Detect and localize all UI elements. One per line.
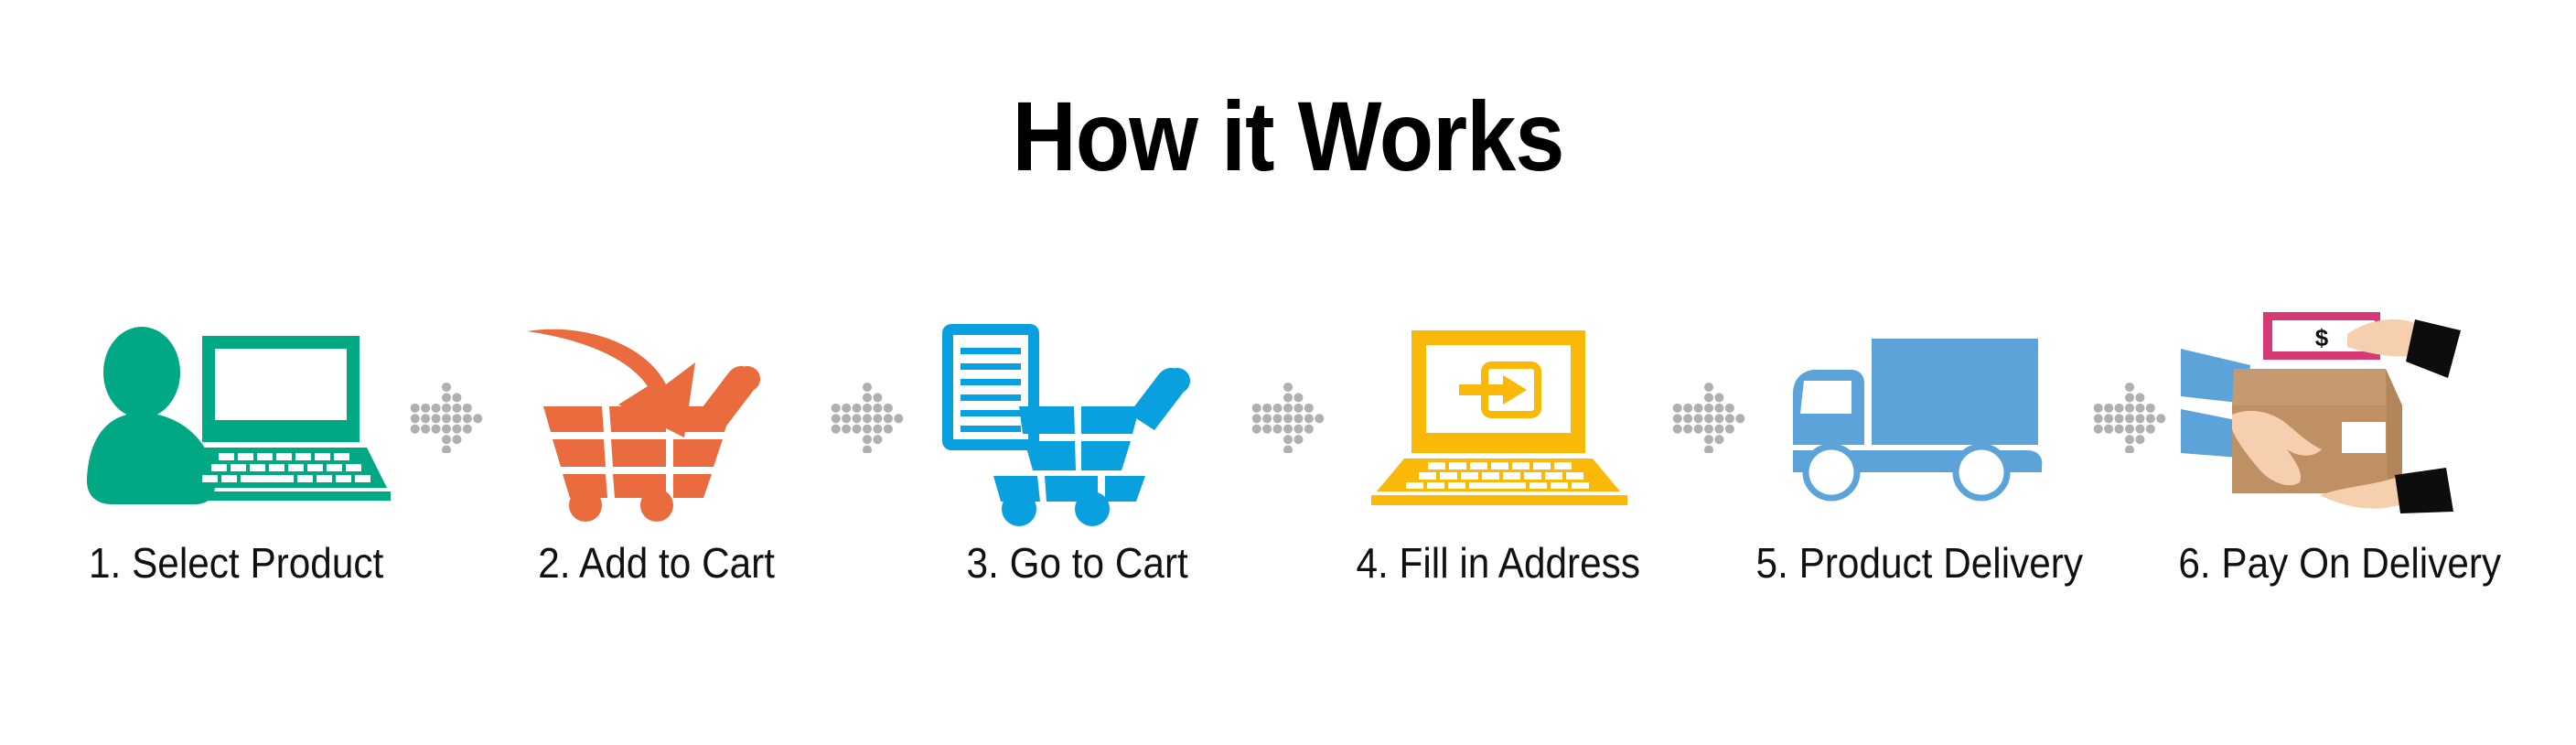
step-2-label: 2. Add to Cart — [539, 538, 776, 588]
step-4-label: 4. Fill in Address — [1357, 538, 1640, 588]
how-it-works-steps: 1. Select Product — [0, 302, 2576, 632]
step-1-select-product[interactable]: 1. Select Product — [53, 302, 419, 632]
step-3-go-to-cart[interactable]: 3. Go to Cart — [895, 302, 1261, 632]
step-5-label: 5. Product Delivery — [1755, 538, 2083, 588]
step-2-add-to-cart[interactable]: 2. Add to Cart — [474, 302, 840, 632]
step-6-label: 6. Pay On Delivery — [2179, 538, 2502, 588]
step-3-label: 3. Go to Cart — [967, 538, 1188, 588]
step-1-label: 1. Select Product — [89, 538, 383, 588]
page-title: How it Works — [129, 0, 2447, 186]
svg-text:$: $ — [2315, 324, 2329, 351]
step-4-fill-in-address[interactable]: 4. Fill in Address — [1315, 302, 1681, 632]
person-with-laptop-icon — [53, 302, 419, 531]
delivery-truck-icon — [1736, 302, 2102, 531]
step-5-product-delivery[interactable]: 5. Product Delivery — [1736, 302, 2102, 632]
document-with-shopping-cart-icon — [895, 302, 1261, 531]
step-6-pay-on-delivery[interactable]: $ 6. Pay On Delivery — [2157, 302, 2523, 632]
arrow-into-shopping-cart-icon — [474, 302, 840, 531]
laptop-with-login-arrow-icon — [1315, 302, 1681, 531]
hands-exchanging-box-and-money-icon: $ — [2157, 302, 2523, 531]
